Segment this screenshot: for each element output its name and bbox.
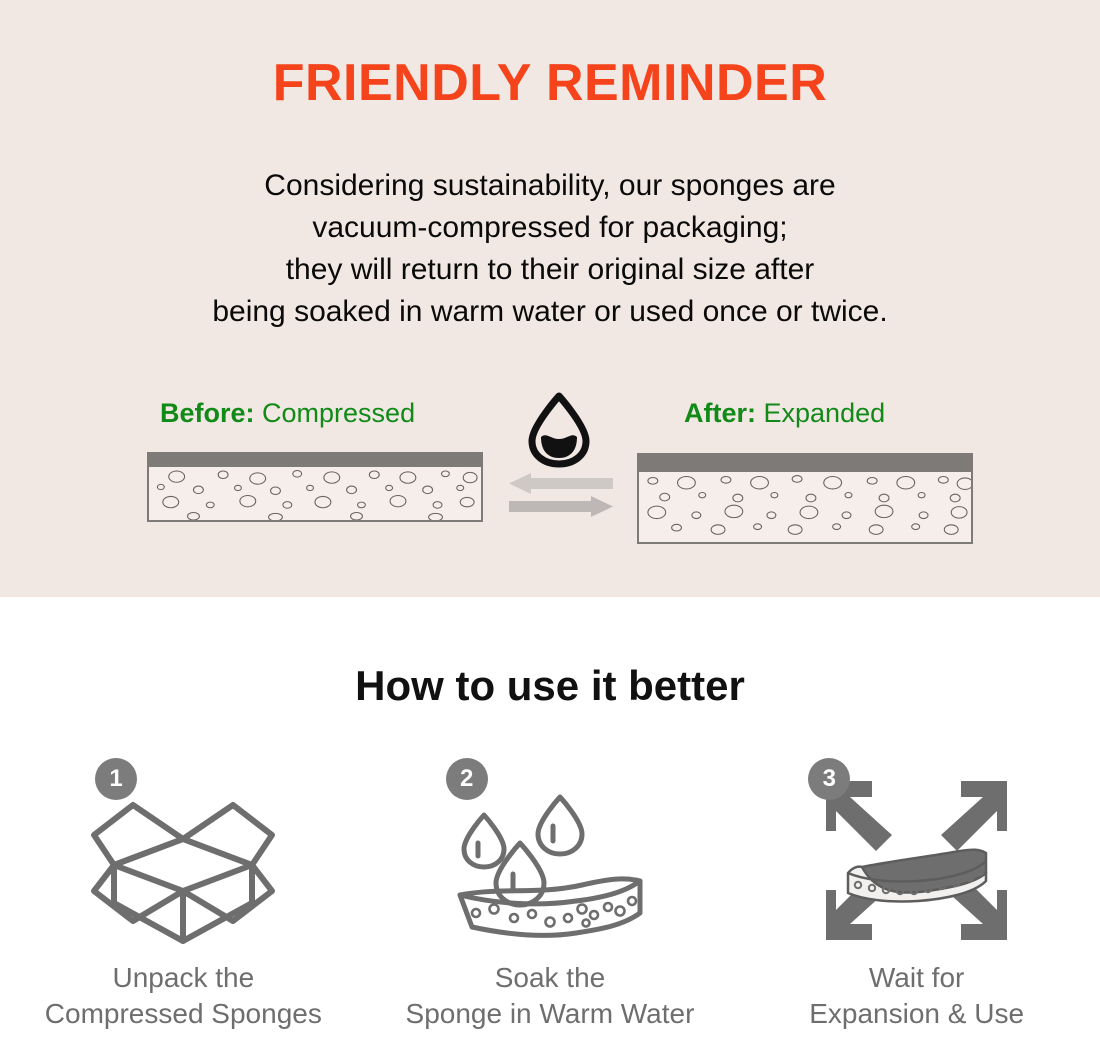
before-state xyxy=(255,398,263,428)
after-gap xyxy=(756,398,764,428)
sponge-pores xyxy=(149,454,481,520)
step-number-badge: 3 xyxy=(808,758,850,800)
step-item: 2 xyxy=(367,752,734,1032)
sponge-pores xyxy=(639,455,971,542)
caption-line: Sponge in Warm Water xyxy=(406,996,695,1032)
expanding-sponge-arrows-icon xyxy=(814,773,1019,948)
before-state-text: Compressed xyxy=(262,398,415,428)
body-line: they will return to their original size … xyxy=(0,249,1100,291)
cycle-arrows-icon xyxy=(509,472,613,518)
before-term: Before: xyxy=(160,398,255,428)
steps-list: 1 Unpack the Compressed Sponges xyxy=(0,752,1100,1032)
compressed-sponge-illustration xyxy=(147,452,483,522)
open-box-icon xyxy=(88,775,278,945)
step-illustration xyxy=(814,770,1019,950)
reminder-body: Considering sustainability, our sponges … xyxy=(0,165,1100,333)
page-title: FRIENDLY REMINDER xyxy=(0,57,1100,109)
after-label: After: Expanded xyxy=(684,400,885,427)
step-caption: Unpack the Compressed Sponges xyxy=(45,960,322,1032)
infographic-page: FRIENDLY REMINDER Considering sustainabi… xyxy=(0,0,1100,1039)
caption-line: Compressed Sponges xyxy=(45,996,322,1032)
before-label: Before: Compressed xyxy=(160,400,415,427)
step-number-badge: 1 xyxy=(95,758,137,800)
caption-line: Expansion & Use xyxy=(809,996,1024,1032)
section-title: How to use it better xyxy=(0,665,1100,707)
step-item: 1 Unpack the Compressed Sponges xyxy=(0,752,367,1032)
caption-line: Unpack the xyxy=(45,960,322,996)
after-state-text: Expanded xyxy=(764,398,886,428)
sponge-water-drops-icon xyxy=(442,773,657,948)
step-caption: Soak the Sponge in Warm Water xyxy=(406,960,695,1032)
expanded-sponge-illustration xyxy=(637,453,973,544)
body-line: vacuum-compressed for packaging; xyxy=(0,207,1100,249)
reminder-panel: FRIENDLY REMINDER Considering sustainabi… xyxy=(0,0,1100,597)
water-drop-icon xyxy=(524,392,594,468)
step-item: 3 xyxy=(733,752,1100,1032)
caption-line: Wait for xyxy=(809,960,1024,996)
after-term: After: xyxy=(684,398,756,428)
body-line: Considering sustainability, our sponges … xyxy=(0,165,1100,207)
caption-line: Soak the xyxy=(406,960,695,996)
body-line: being soaked in warm water or used once … xyxy=(0,291,1100,333)
step-number-badge: 2 xyxy=(446,758,488,800)
step-caption: Wait for Expansion & Use xyxy=(809,960,1024,1032)
